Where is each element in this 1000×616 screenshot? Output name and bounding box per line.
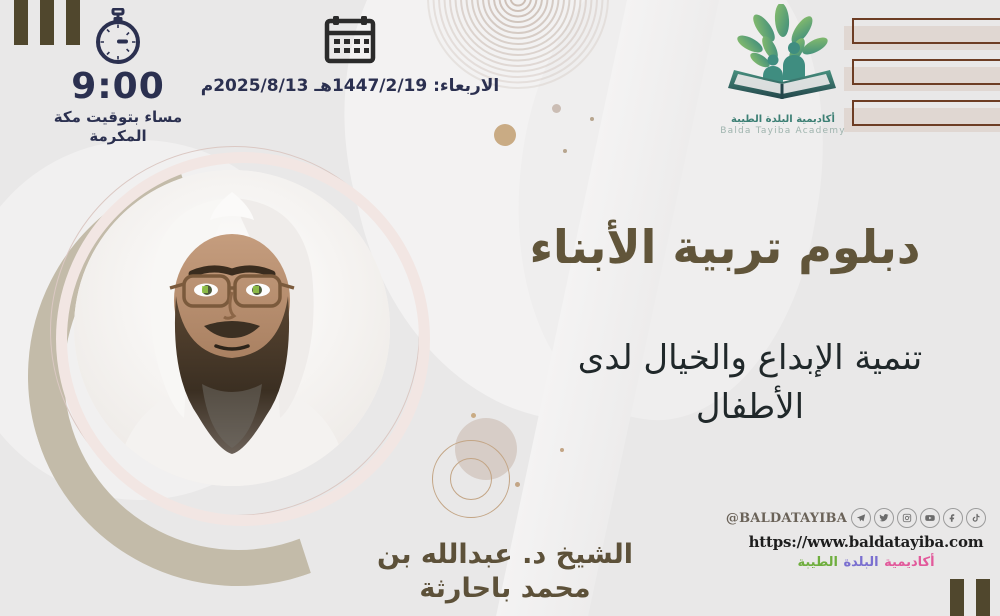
speaker-portrait-zone (20, 128, 440, 548)
footer-social-block: @BALDATAYIBA (746, 508, 986, 570)
dot-decoration (552, 104, 561, 113)
telegram-icon[interactable] (851, 508, 871, 528)
brand-part-1: البلدة (844, 555, 879, 570)
brand-part-2: الطيبة (797, 555, 838, 570)
dot-decoration (563, 149, 567, 153)
dot-decoration (590, 117, 594, 121)
top-right-frame-bars-decoration (852, 18, 1000, 141)
stopwatch-icon (48, 8, 188, 66)
page-title: دبلوم تربية الأبناء (490, 222, 960, 273)
circle-ring-decoration-small (450, 458, 492, 500)
dot-decoration (560, 448, 564, 452)
logo-english-name: Balda Tayiba Academy (708, 126, 858, 136)
dot-decoration (515, 482, 520, 487)
brand-part-0: أكاديمية (884, 555, 934, 570)
tiktok-icon[interactable] (966, 508, 986, 528)
event-date-block: الاربعاء: 1447/2/19هـ 2025/8/13م (200, 14, 500, 96)
event-poster: 9:00 مساء بتوقيت مكة المكرمة الاربعاء: 1… (0, 0, 1000, 616)
instagram-icon[interactable] (897, 508, 917, 528)
event-time-block: 9:00 مساء بتوقيت مكة المكرمة (48, 8, 188, 145)
bar-1 (976, 579, 990, 616)
page-subtitle: تنمية الإبداع والخيال لدى الأطفال (540, 334, 960, 433)
speaker-portrait-photo (74, 170, 390, 486)
dot-decoration (471, 413, 476, 418)
social-handle: @BALDATAYIBA (726, 511, 847, 526)
bar-3 (14, 0, 28, 45)
social-handle-row: @BALDATAYIBA (746, 508, 986, 528)
event-time-value: 9:00 (48, 68, 188, 106)
frame-bar-1 (852, 18, 1000, 44)
dot-decoration (494, 124, 516, 146)
youtube-icon[interactable] (920, 508, 940, 528)
facebook-icon[interactable] (943, 508, 963, 528)
event-date-value: الاربعاء: 1447/2/19هـ 2025/8/13م (200, 76, 500, 96)
speaker-name: الشيخ د. عبدالله بن محمد باحارثة (340, 538, 670, 606)
tree-book-logo-icon (708, 4, 858, 116)
frame-bar-2 (852, 59, 1000, 85)
academy-logo: أكاديمية البلدة الطيبة Balda Tayiba Acad… (708, 4, 858, 136)
footer-arabic-brand: أكاديمية البلدة الطيبة (746, 555, 986, 570)
twitter-icon[interactable] (874, 508, 894, 528)
website-url[interactable]: https://www.baldatayiba.com (746, 533, 986, 551)
bottom-right-bars-decoration (950, 579, 990, 616)
frame-bar-3 (852, 100, 1000, 126)
bar-2 (950, 579, 964, 616)
social-icons-row[interactable] (851, 508, 986, 528)
calendar-icon (200, 14, 500, 66)
